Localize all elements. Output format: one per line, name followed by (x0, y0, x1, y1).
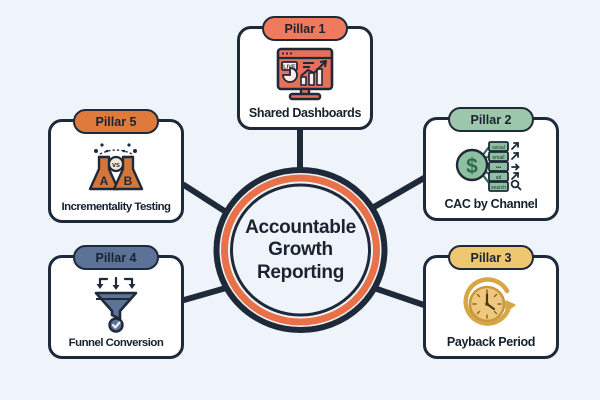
pillar-1-label: Shared Dashboards (249, 106, 361, 123)
pillar-card-1[interactable]: Pillar 1 LIVE S (237, 26, 373, 130)
dashboard-monitor-icon: LIVE (270, 46, 340, 102)
svg-text:A: A (100, 174, 109, 188)
pillar-card-4[interactable]: Pillar 4 Funnel Conversion (48, 255, 184, 359)
funnel-check-icon (87, 275, 145, 333)
pillar-2-label: CAC by Channel (444, 197, 537, 214)
hub-title-line-1: Accountable (245, 217, 356, 238)
pillar-card-2[interactable]: Pillar 2 $ social email (423, 117, 559, 221)
diagram-canvas: Accountable Growth Reporting Pillar 1 LI… (0, 0, 600, 400)
pillar-5-label: Incrementality Testing (61, 201, 170, 216)
svg-text:ad: ad (496, 175, 502, 181)
ab-test-flasks-icon: A B vs (83, 141, 149, 195)
center-hub: Accountable Growth Reporting (213, 166, 388, 334)
svg-text:$: $ (466, 155, 478, 178)
hub-title-line-2: Growth (268, 239, 333, 260)
pillar-2-badge: Pillar 2 (448, 107, 534, 132)
pillar-card-3[interactable]: Pillar 3 (423, 255, 559, 359)
pillar-3-badge-label: Pillar 3 (471, 251, 512, 265)
hub-title-line-3: Reporting (257, 262, 344, 283)
svg-text:email: email (493, 155, 505, 161)
clock-refresh-icon (460, 275, 522, 331)
pillar-4-badge: Pillar 4 (73, 245, 159, 270)
dollar-channels-icon: $ social email ••• ad search (453, 138, 529, 192)
hub-title: Accountable Growth Reporting (213, 166, 388, 334)
svg-text:•••: ••• (496, 165, 502, 171)
svg-text:B: B (124, 174, 133, 188)
pillar-3-badge: Pillar 3 (448, 245, 534, 270)
svg-text:search: search (491, 185, 506, 191)
pillar-4-badge-label: Pillar 4 (96, 251, 137, 265)
pillar-1-badge: Pillar 1 (262, 16, 348, 41)
pillar-3-label: Payback Period (447, 335, 535, 352)
pillar-card-5[interactable]: Pillar 5 (48, 119, 184, 223)
pillar-5-badge-label: Pillar 5 (96, 115, 137, 129)
pillar-5-badge: Pillar 5 (73, 109, 159, 134)
svg-text:vs: vs (112, 162, 120, 169)
pillar-2-badge-label: Pillar 2 (471, 113, 512, 127)
pillar-4-label: Funnel Conversion (69, 337, 164, 352)
pillar-1-badge-label: Pillar 1 (285, 22, 326, 36)
svg-text:social: social (492, 145, 505, 151)
